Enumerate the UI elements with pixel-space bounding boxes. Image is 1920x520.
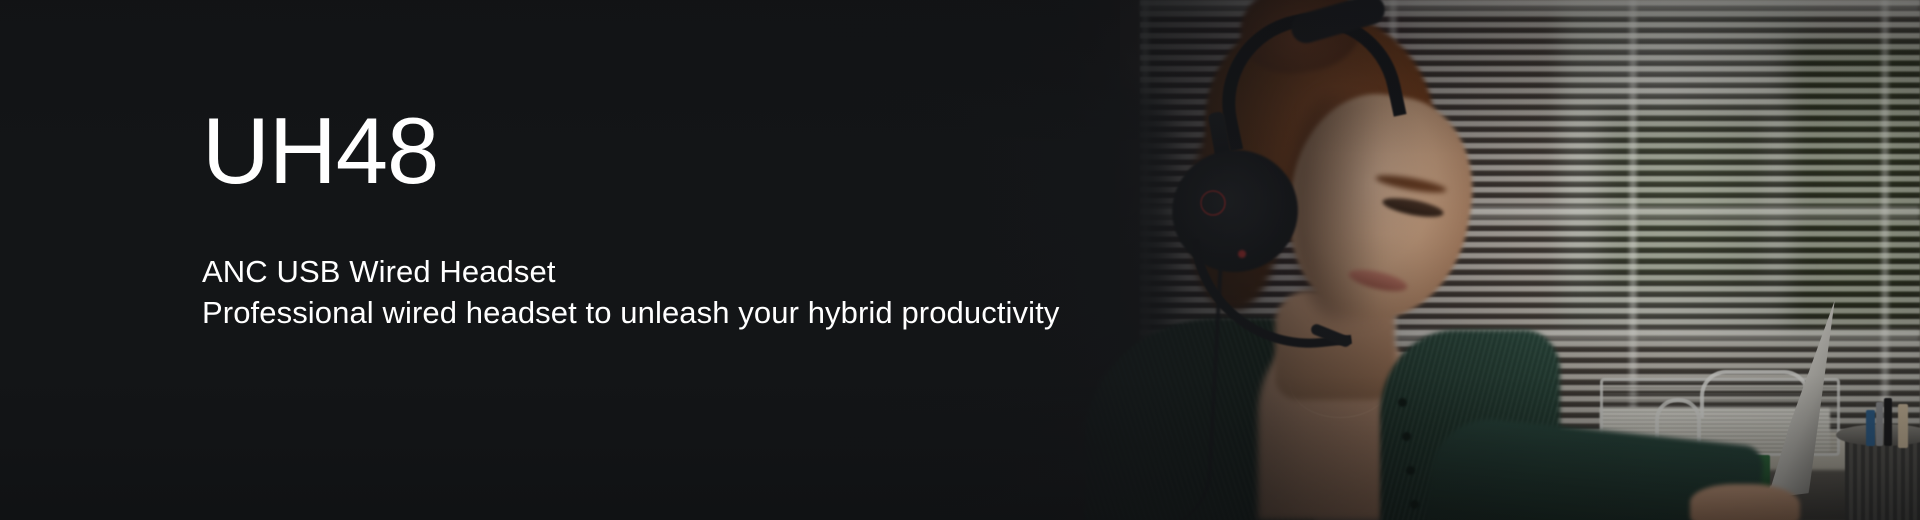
cardigan-button	[1402, 432, 1411, 441]
hand	[1690, 484, 1800, 520]
product-hero-banner: UH48 ANC USB Wired Headset Professional …	[0, 0, 1920, 520]
product-subtitle: ANC USB Wired Headset	[202, 256, 556, 287]
cardigan-button	[1410, 500, 1419, 509]
pen-icon	[1884, 398, 1892, 446]
cardigan-button	[1398, 398, 1407, 407]
necklace	[1290, 348, 1390, 418]
pen-icon	[1866, 410, 1875, 446]
product-title: UH48	[202, 104, 438, 198]
cardigan-button	[1406, 466, 1415, 475]
product-tagline: Professional wired headset to unleash yo…	[202, 297, 1059, 328]
pen-icon	[1898, 404, 1908, 448]
headset-control-ring-icon	[1200, 190, 1226, 216]
pen-icon	[1876, 402, 1883, 446]
letter-tray-handle	[1700, 370, 1810, 418]
